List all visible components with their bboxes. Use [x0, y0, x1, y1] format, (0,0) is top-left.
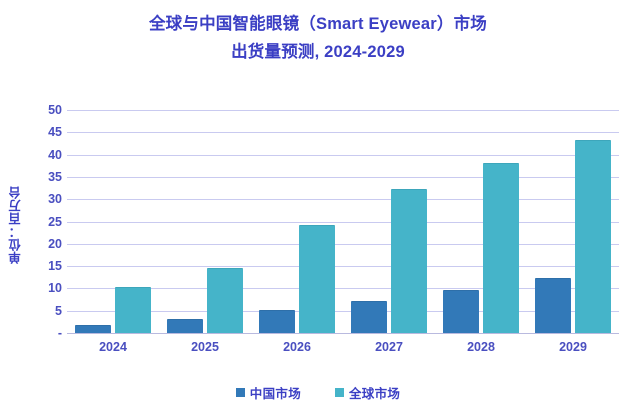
bar[interactable]	[299, 225, 335, 333]
y-axis-tick-label: 35	[22, 171, 62, 184]
bar-group	[351, 110, 427, 333]
bar-group	[443, 110, 519, 333]
chart-legend: 中国市场全球市场	[0, 383, 636, 402]
bar-group	[535, 110, 611, 333]
bar[interactable]	[115, 287, 151, 333]
bar[interactable]	[535, 278, 571, 333]
x-axis-tick-label: 2026	[283, 340, 311, 354]
bar-group	[167, 110, 243, 333]
chart-title-line-1: 全球与中国智能眼镜（Smart Eyewear）市场	[149, 15, 487, 33]
x-axis-tick-label: 2025	[191, 340, 219, 354]
y-axis-tick-label: 45	[22, 126, 62, 139]
bar[interactable]	[259, 310, 295, 333]
bar[interactable]	[75, 325, 111, 333]
y-axis-tick-label: 5	[22, 304, 62, 317]
bar[interactable]	[575, 140, 611, 333]
y-axis-tick-label: 20	[22, 238, 62, 251]
y-axis-tick-labels: 5045403530252015105-	[18, 110, 62, 333]
legend-label: 全球市场	[349, 383, 400, 402]
gridline	[67, 333, 619, 334]
y-axis-tick-label: 10	[22, 282, 62, 295]
bar-group	[259, 110, 335, 333]
plot-area	[67, 110, 619, 333]
legend-swatch-icon	[335, 388, 344, 397]
chart-title: 全球与中国智能眼镜（Smart Eyewear）市场 出货量预测, 2024-2…	[0, 10, 636, 66]
x-axis-tick-labels: 202420252026202720282029	[67, 340, 619, 362]
y-axis-tick-label: 30	[22, 193, 62, 206]
y-axis-tick-label: 25	[22, 215, 62, 228]
legend-item[interactable]: 全球市场	[335, 383, 400, 402]
chart-container: 全球与中国智能眼镜（Smart Eyewear）市场 出货量预测, 2024-2…	[0, 0, 636, 410]
bar[interactable]	[483, 163, 519, 333]
bar[interactable]	[391, 189, 427, 333]
legend-item[interactable]: 中国市场	[236, 383, 301, 402]
bar[interactable]	[351, 301, 387, 333]
y-axis-tick-label: -	[22, 327, 62, 340]
y-axis-tick-label: 15	[22, 260, 62, 273]
y-axis-tick-label: 50	[22, 104, 62, 117]
bars-layer	[67, 110, 619, 333]
y-axis-tick-label: 40	[22, 148, 62, 161]
legend-label: 中国市场	[250, 383, 301, 402]
bar-group	[75, 110, 151, 333]
x-axis-tick-label: 2024	[99, 340, 127, 354]
x-axis-tick-label: 2027	[375, 340, 403, 354]
x-axis-tick-label: 2028	[467, 340, 495, 354]
bar[interactable]	[167, 319, 203, 333]
x-axis-tick-label: 2029	[559, 340, 587, 354]
bar[interactable]	[443, 290, 479, 333]
bar[interactable]	[207, 268, 243, 333]
chart-title-line-2: 出货量预测, 2024-2029	[0, 38, 636, 66]
legend-swatch-icon	[236, 388, 245, 397]
